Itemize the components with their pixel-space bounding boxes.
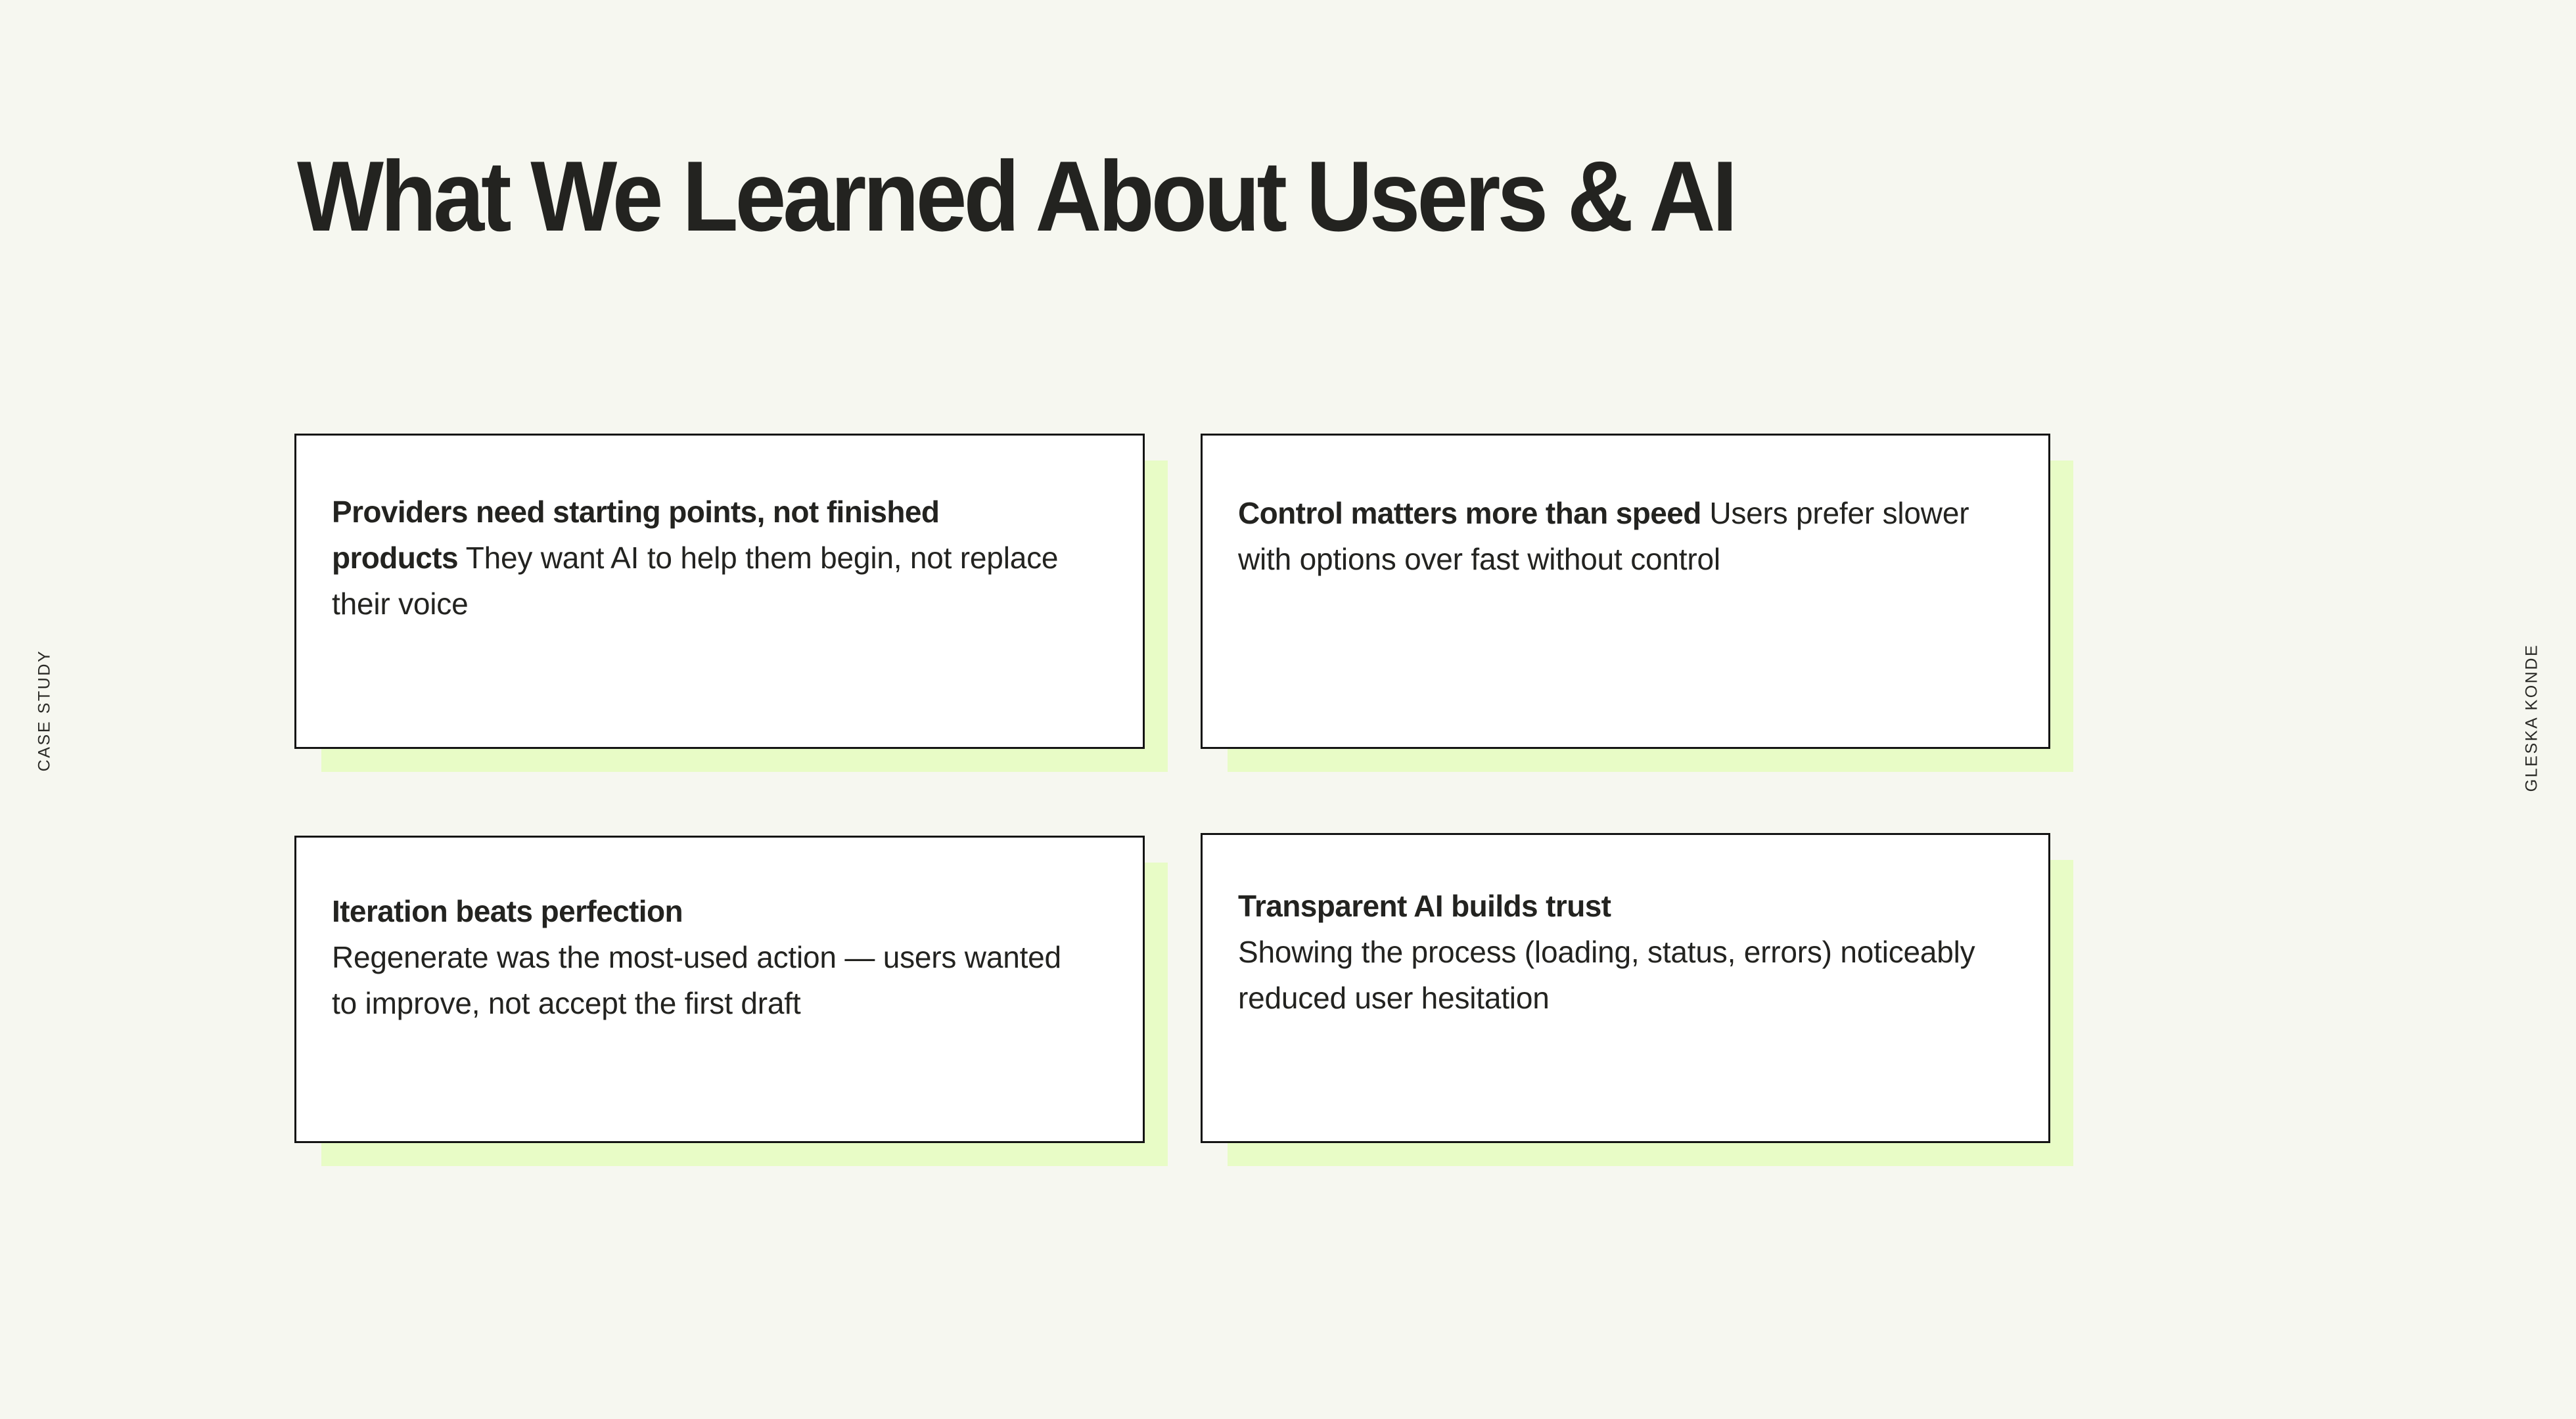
insight-card-text: Iteration beats perfectionRegenerate was…	[296, 889, 1143, 1027]
insight-card-text: Control matters more than speed Users pr…	[1203, 491, 2048, 583]
insight-card-body: Regenerate was the most-used action — us…	[332, 940, 1061, 1020]
side-label-right: GLESKA KONDE	[2523, 633, 2542, 803]
page-title: What We Learned About Users & AI	[297, 146, 1734, 248]
insight-card-lead: Transparent AI builds trust	[1238, 884, 1988, 930]
insight-card: Providers need starting points, not fini…	[294, 434, 1145, 749]
insight-card-lead: Iteration beats perfection	[332, 889, 1081, 935]
side-label-left: CASE STUDY	[35, 625, 55, 796]
insight-card: Control matters more than speed Users pr…	[1201, 434, 2050, 749]
insight-card-text: Providers need starting points, not fini…	[296, 489, 1143, 627]
insight-card: Transparent AI builds trustShowing the p…	[1201, 833, 2050, 1143]
insight-card-text: Transparent AI builds trustShowing the p…	[1203, 884, 2048, 1022]
insight-card: Iteration beats perfectionRegenerate was…	[294, 836, 1145, 1143]
insight-card-body: Showing the process (loading, status, er…	[1238, 935, 1975, 1015]
insight-card-grid: Providers need starting points, not fini…	[294, 434, 2050, 1169]
insight-card-lead: Control matters more than speed	[1238, 496, 1701, 530]
